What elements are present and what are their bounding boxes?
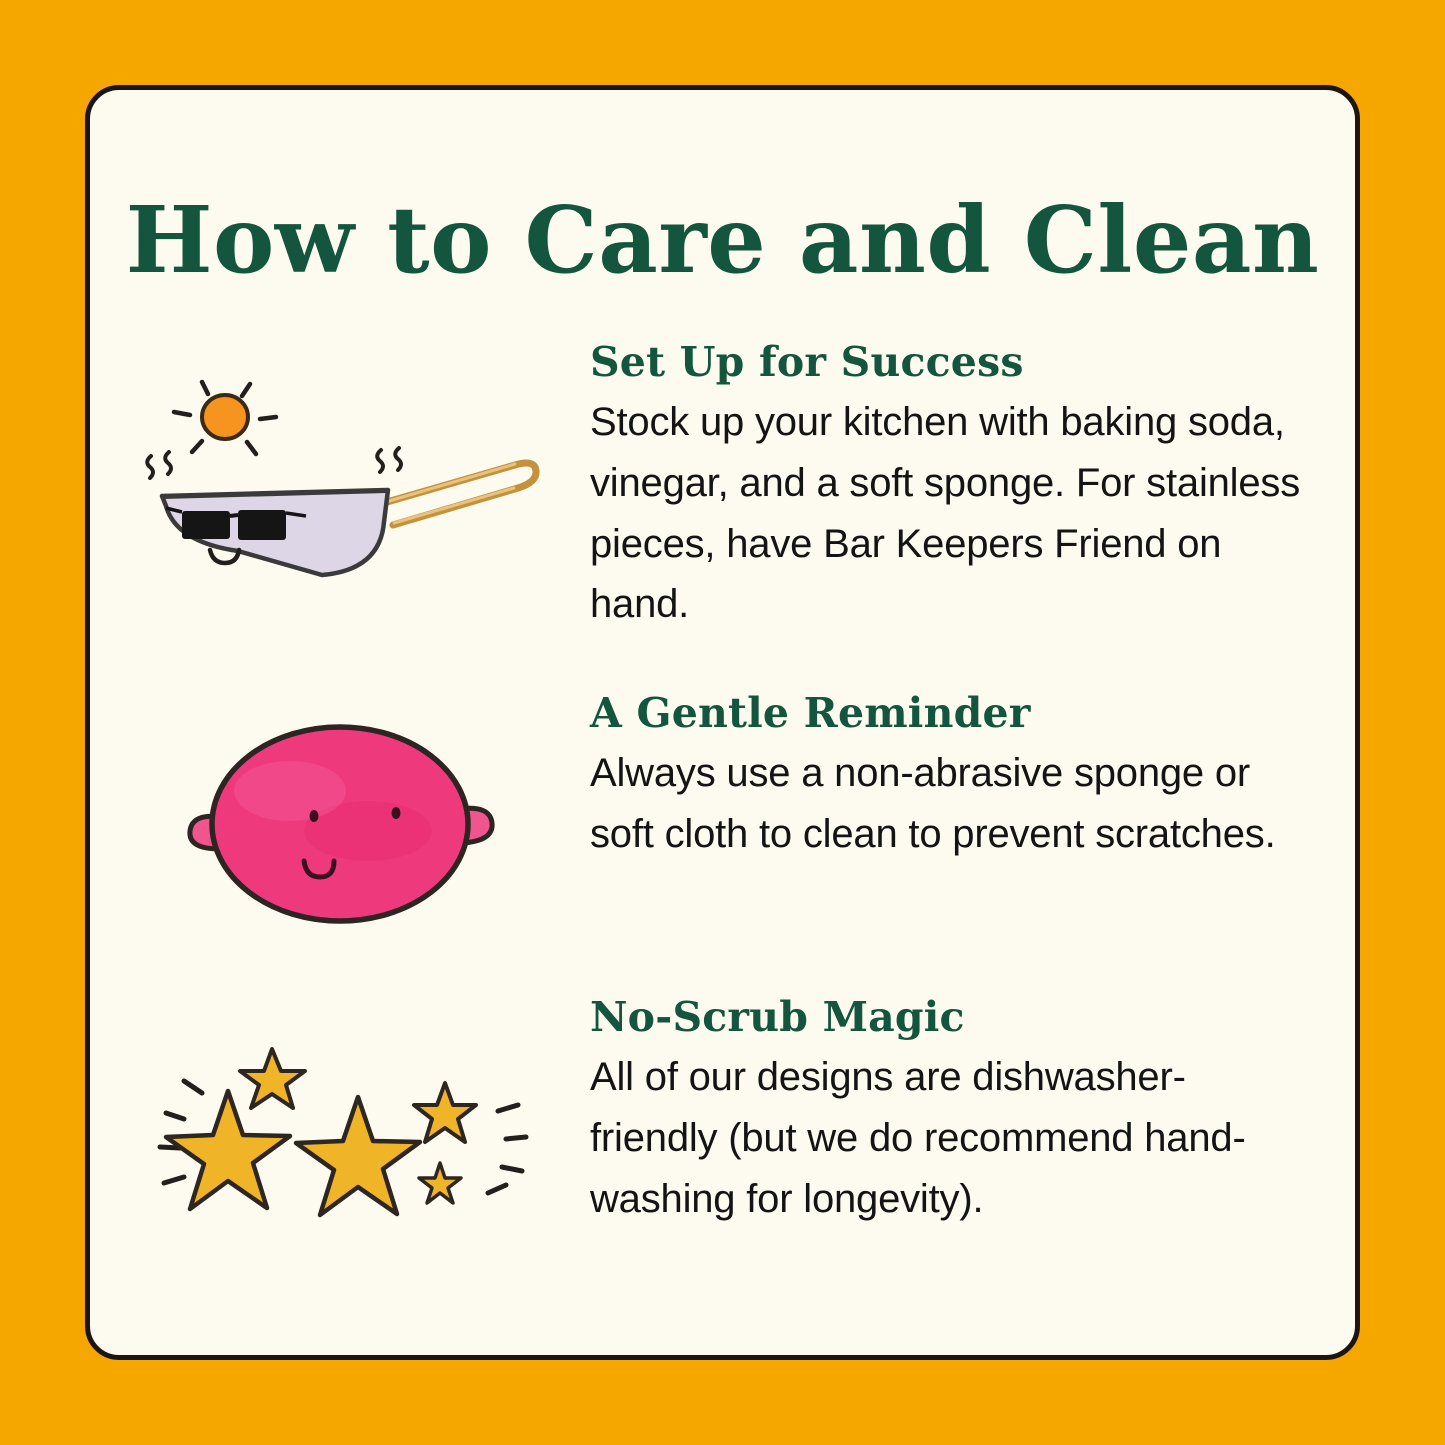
section-heading-2: A Gentle Reminder [590,691,1303,737]
section-a-gentle-reminder: A Gentle Reminder Always use a non-abras… [90,691,1355,939]
sun-disk-icon [202,395,248,439]
section-heading-1: Set Up for Success [590,340,1303,386]
star-tiny-bottom-icon [419,1163,461,1203]
page-title: How to Care and Clean [90,194,1355,286]
section-body-1: Stock up your kitchen with baking soda, … [590,392,1303,635]
section-body-2: Always use a non-abrasive sponge or soft… [590,743,1303,865]
care-and-clean-card-page: How to Care and Clean [0,0,1445,1445]
section-illustration-2 [90,691,590,939]
sparkle-dashes-left-icon [160,1081,202,1183]
sections-list: Set Up for Success Stock up your kitchen… [90,340,1355,1235]
star-small-right-icon [414,1083,476,1142]
section-no-scrub-magic: No-Scrub Magic All of our designs are di… [90,995,1355,1235]
steam-squiggles-right-icon [377,448,401,472]
section-heading-3: No-Scrub Magic [590,995,1303,1041]
dish-highlight-icon [234,761,346,821]
star-small-top-icon [240,1049,305,1108]
section-illustration-3 [90,995,590,1235]
section-copy-1: Set Up for Success Stock up your kitchen… [590,340,1355,635]
star-large-left-icon [166,1091,290,1209]
star-large-right-icon [296,1097,420,1215]
section-copy-3: No-Scrub Magic All of our designs are di… [590,995,1355,1229]
sparkling-stars-icon [150,1035,530,1235]
steam-squiggles-left-icon [147,452,171,478]
content-card: How to Care and Clean [85,85,1360,1360]
section-copy-2: A Gentle Reminder Always use a non-abras… [590,691,1355,865]
section-illustration-1 [90,340,590,612]
section-set-up-for-success: Set Up for Success Stock up your kitchen… [90,340,1355,635]
sparkle-dashes-right-icon [488,1105,526,1193]
pink-oval-dish-with-face-icon [160,709,520,939]
frying-pan-with-sunglasses-and-sun-icon [130,362,550,612]
section-body-3: All of our designs are dishwasher-friend… [590,1047,1303,1229]
